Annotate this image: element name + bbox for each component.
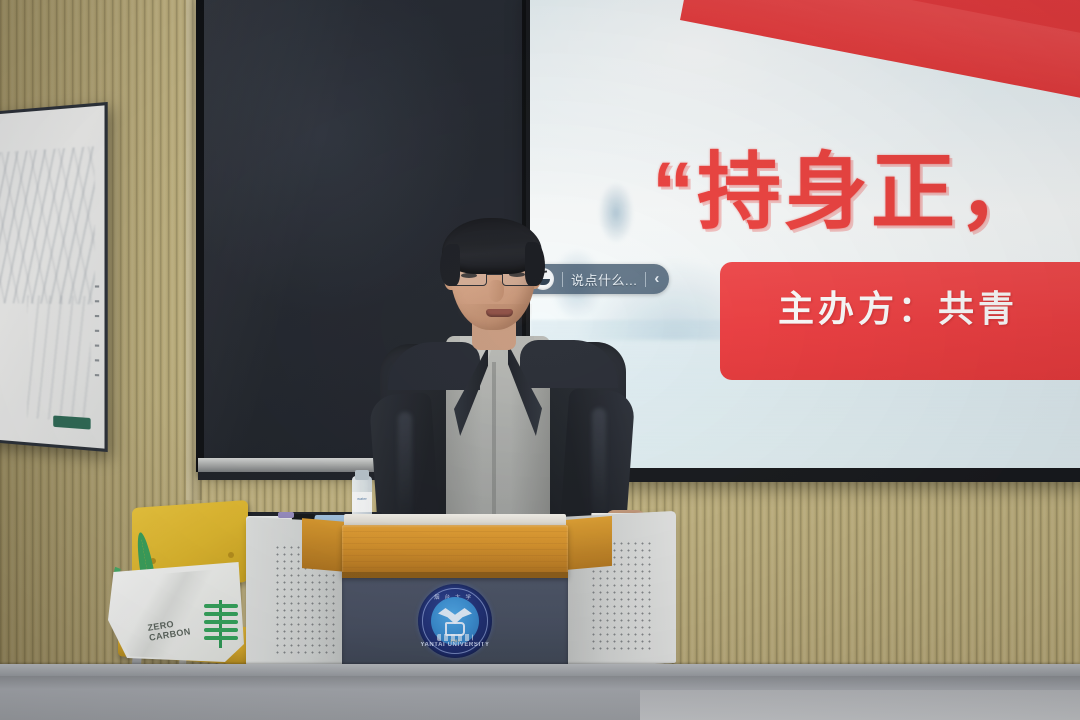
water-bottle-cap (355, 470, 369, 480)
speaker-person (368, 212, 658, 542)
university-emblem: 烟台大学 1984 YANTAI UNIVERSITY (418, 584, 492, 658)
whiteboard-eraser (53, 415, 90, 429)
tote-bag: ZERO CARBON (108, 532, 248, 662)
lectern-wood-front (342, 525, 568, 577)
whiteboard-frame-dots (95, 285, 99, 380)
slide-organizer-text: 主办方：共青 (778, 280, 1018, 332)
whiteboard-erased-marks (0, 146, 95, 304)
slide-headline: “持身正， (652, 150, 1045, 234)
screenshot-root: “持身正， 主办方：共青 说点什么... ‹ (0, 0, 1080, 720)
leaf-frond (204, 612, 238, 616)
lectern-wood-wing-right (564, 516, 612, 570)
whiteboard-erased-marks-2 (27, 295, 91, 422)
leaf-frond (204, 604, 238, 608)
emblem-name-en: YANTAI UNIVERSITY (418, 642, 492, 648)
floor-right-section (640, 690, 1080, 720)
lectern-wood-wing-left (302, 518, 346, 572)
leaf-frond (204, 636, 238, 640)
hair-side-right (525, 242, 545, 286)
whiteboard (0, 102, 108, 452)
mouth (486, 309, 513, 317)
hair-side-left (440, 244, 460, 286)
hair-fringe (452, 230, 534, 256)
